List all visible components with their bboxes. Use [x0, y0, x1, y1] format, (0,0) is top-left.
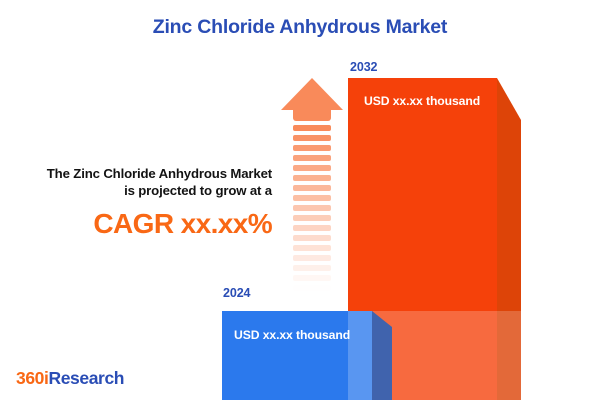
- arrow-stripes: [293, 125, 331, 306]
- arrow-stripe: [293, 235, 331, 241]
- arrow-stripe: [293, 245, 331, 251]
- arrow-stripe: [293, 255, 331, 261]
- arrow-stripe: [293, 125, 331, 131]
- arrow-stripe: [293, 155, 331, 161]
- market-infographic: Zinc Chloride Anhydrous Market The Zinc …: [0, 0, 600, 400]
- arrow-stripe: [293, 215, 331, 221]
- bar-2032-base-overlay: [348, 311, 497, 400]
- cagr-line-1: The Zinc Chloride Anhydrous Market: [0, 165, 272, 182]
- arrow-stripe: [293, 135, 331, 141]
- arrow-head-icon: [281, 78, 343, 110]
- arrow-stripe: [293, 175, 331, 181]
- arrow-stripe: [293, 265, 331, 271]
- bar-2032-side-base-overlay: [497, 311, 521, 400]
- page-title: Zinc Chloride Anhydrous Market: [0, 16, 600, 39]
- cagr-line-2: is projected to grow at a: [0, 182, 272, 199]
- arrow-stripe: [293, 295, 331, 301]
- arrow-stripe: [293, 225, 331, 231]
- arrow-stripe: [293, 285, 331, 291]
- growth-arrow-icon: [281, 78, 343, 306]
- arrow-stripe: [293, 145, 331, 151]
- cagr-text-block: The Zinc Chloride Anhydrous Market is pr…: [0, 165, 272, 243]
- arrow-stripe: [293, 205, 331, 211]
- arrow-stripe: [293, 195, 331, 201]
- arrow-stripe: [293, 165, 331, 171]
- year-label-2032: 2032: [350, 60, 377, 74]
- arrow-stripe: [293, 185, 331, 191]
- brand-logo: 360iResearch: [16, 368, 124, 389]
- value-label-2032: USD xx.xx thousand: [364, 94, 480, 108]
- value-label-2024: USD xx.xx thousand: [234, 328, 350, 342]
- logo-research: Research: [48, 368, 124, 388]
- logo-360i: 360i: [16, 368, 48, 388]
- arrow-neck: [293, 109, 331, 121]
- arrow-stripe: [293, 275, 331, 281]
- year-label-2024: 2024: [223, 286, 250, 300]
- cagr-value: CAGR xx.xx%: [0, 205, 272, 243]
